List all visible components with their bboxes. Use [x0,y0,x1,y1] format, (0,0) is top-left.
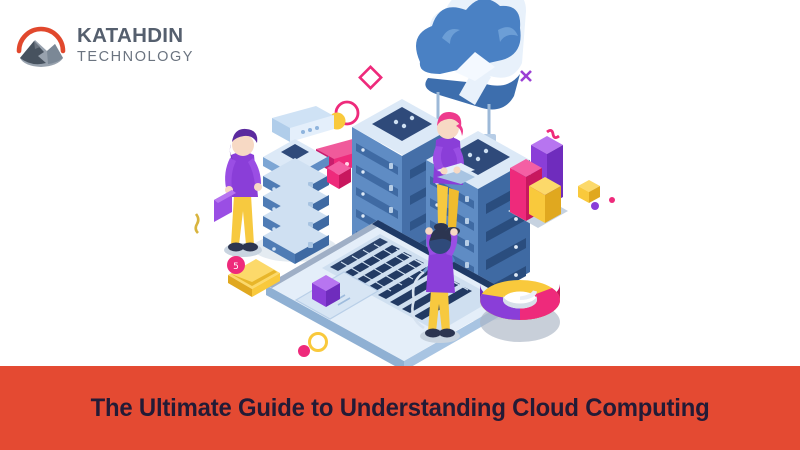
decor-ring-yellow [310,334,327,351]
brand-subtitle: TECHNOLOGY [77,50,194,65]
brand-wordmark: KATAHDIN TECHNOLOGY [77,26,194,65]
mountain-in-circle-logo-icon [14,18,68,72]
decor-dot-pink [298,345,310,357]
banner-graphic: 5 [0,0,800,450]
decor-squiggle-left [196,214,199,233]
person-folder [214,129,262,257]
donut-chart-isometric [480,280,560,342]
server-stack-small [253,139,337,264]
decor-dot-purple [591,202,599,210]
decor-square-outline [360,67,381,88]
bar-chart-isometric [508,136,568,228]
svg-text:5: 5 [233,262,239,272]
banner-title: The Ultimate Guide to Understanding Clou… [91,394,710,423]
decor-x-mark [521,71,531,81]
decor-squiggle [547,130,559,137]
decor-dot-magenta-right [609,197,615,203]
brand-name: KATAHDIN [77,26,194,47]
brand-logo[interactable]: KATAHDIN TECHNOLOGY [14,18,194,72]
decor-cube-yellow [578,180,600,203]
title-banner: The Ultimate Guide to Understanding Clou… [0,366,800,450]
